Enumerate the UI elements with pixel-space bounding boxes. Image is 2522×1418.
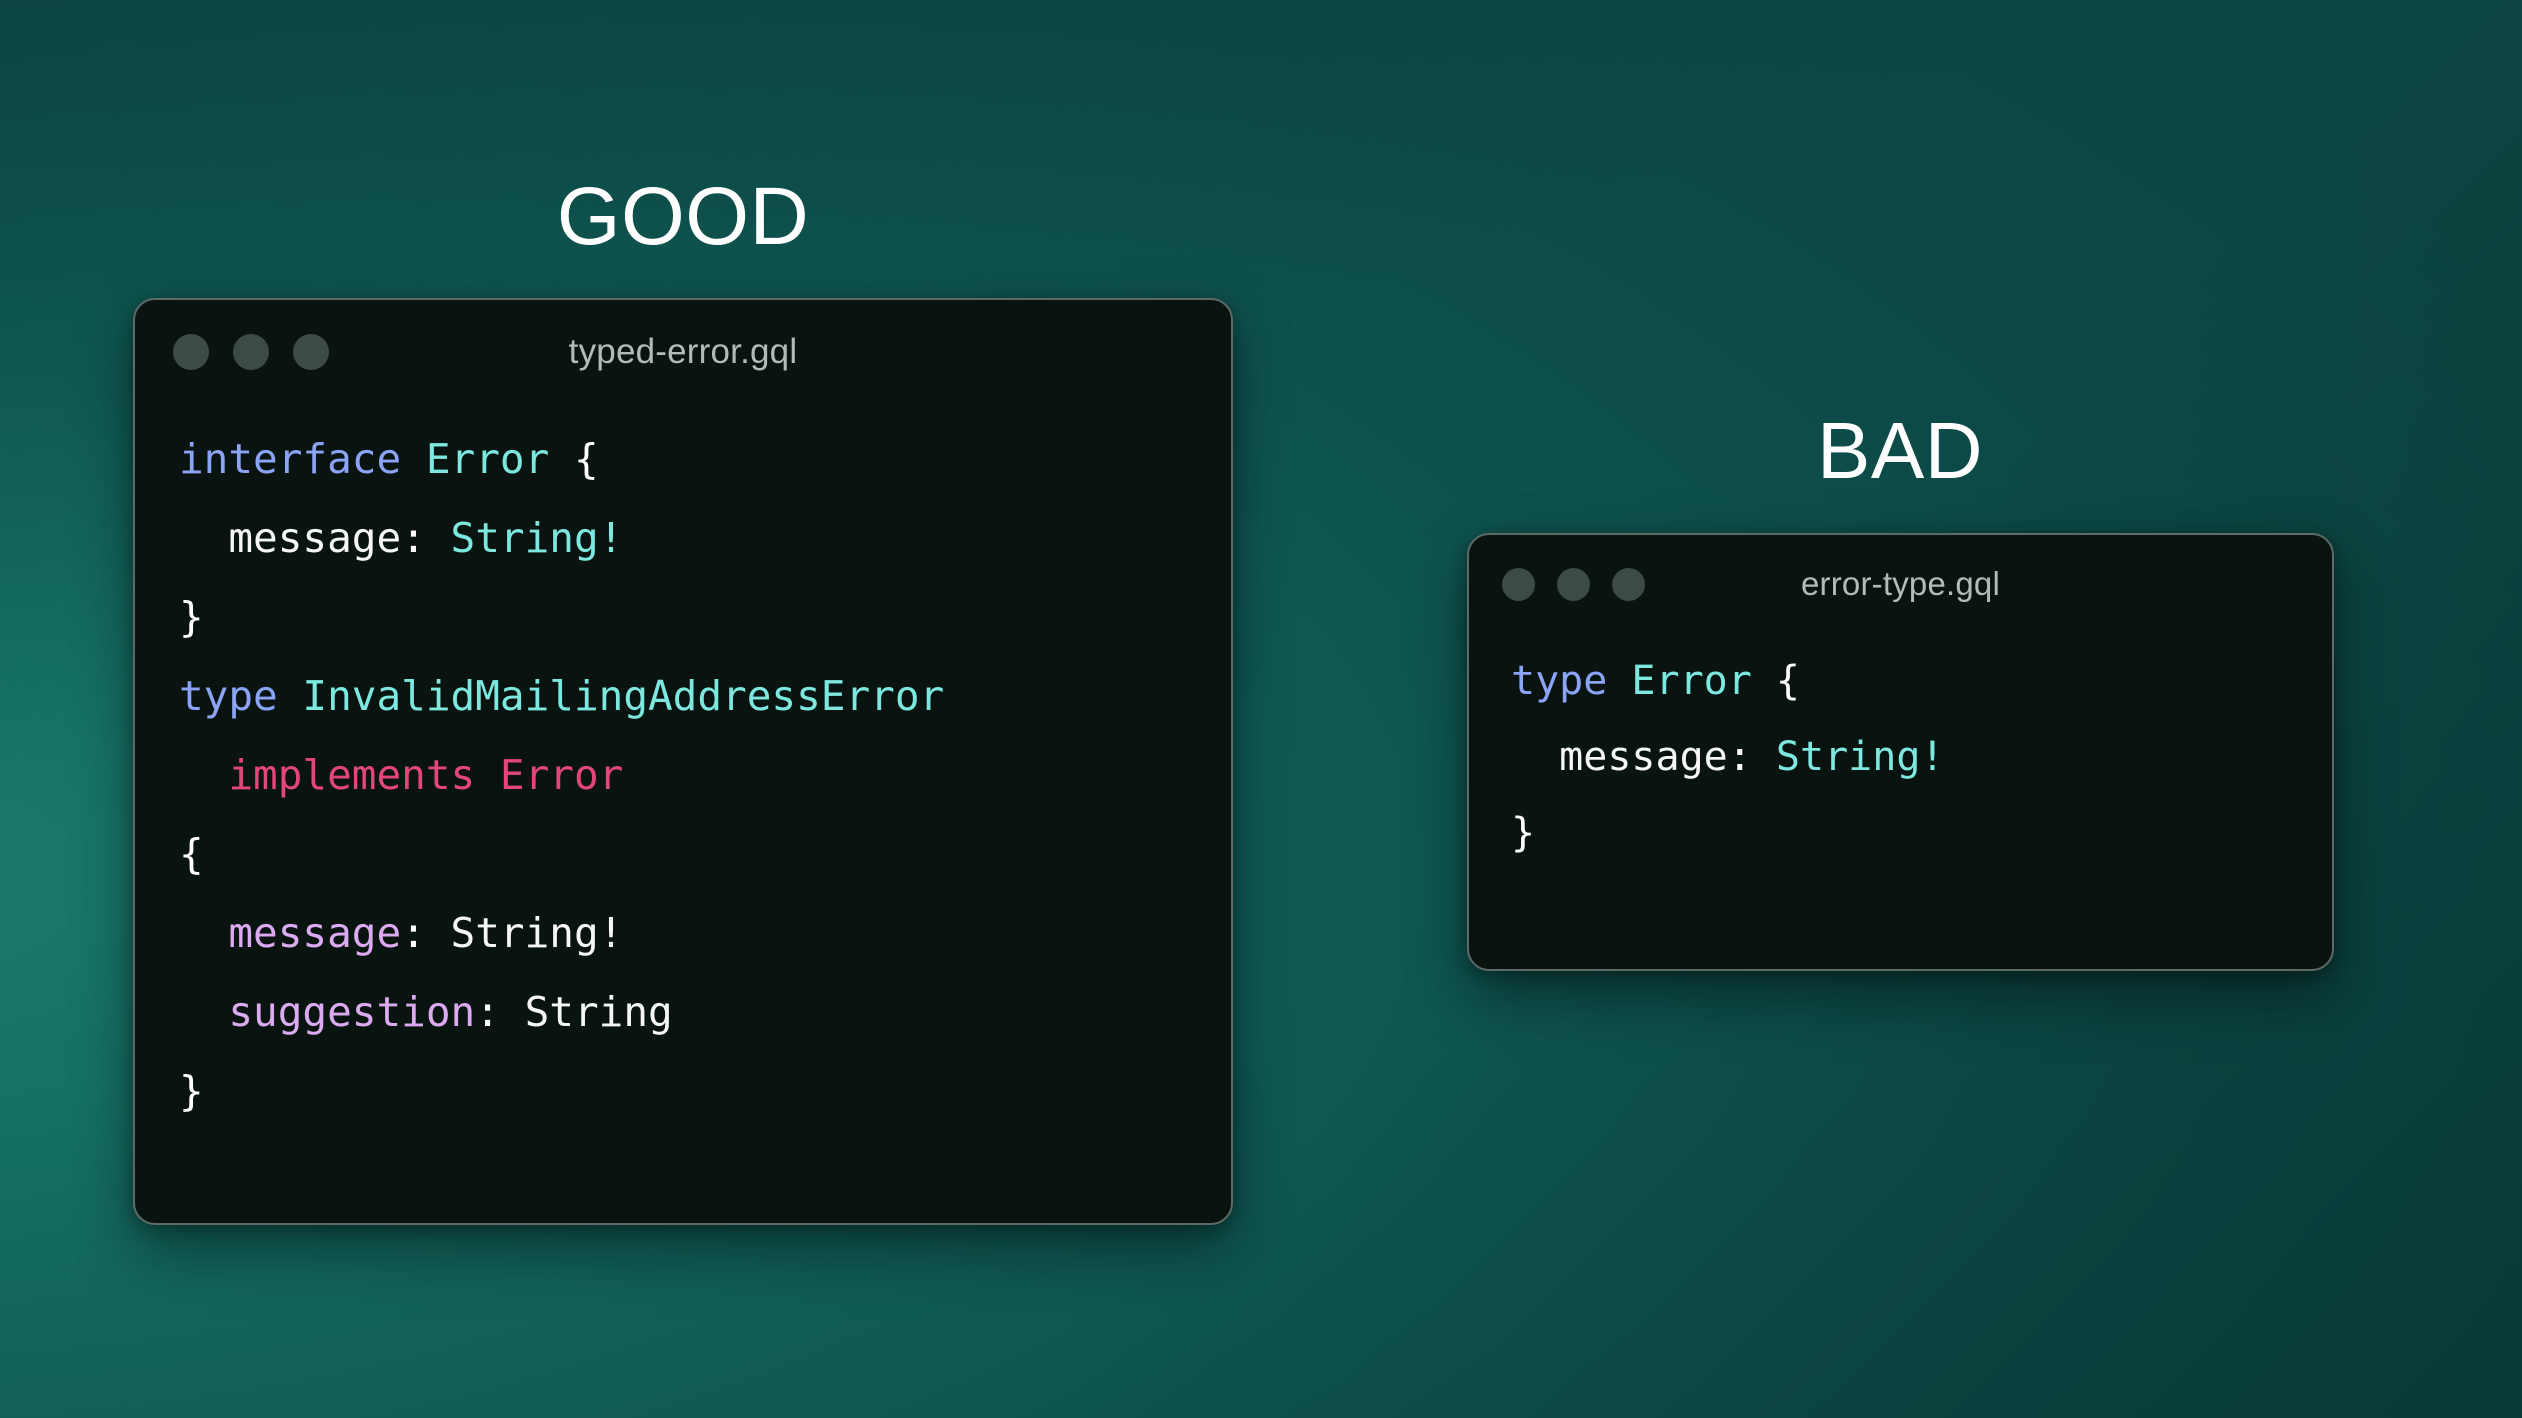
code-line: suggestion: String — [179, 973, 1231, 1052]
good-window-titlebar: typed-error.gql — [135, 300, 1231, 404]
code-line: message: String! — [1511, 719, 2332, 795]
code-token-punct: { — [179, 830, 204, 878]
good-code-window: typed-error.gql interface Error { messag… — [133, 298, 1233, 1225]
code-token-field: message — [179, 909, 401, 957]
code-token-punct: } — [179, 1067, 204, 1115]
code-token-type: String! — [451, 514, 624, 562]
code-line: { — [179, 815, 1231, 894]
code-token-type: Error — [1631, 658, 1751, 704]
bad-window-controls — [1502, 568, 1645, 601]
slide-canvas: GOOD typed-error.gql interface Error { m… — [0, 0, 2522, 1418]
code-token-kw: interface — [179, 435, 426, 483]
code-token-punct: : — [401, 514, 450, 562]
code-token-punct: } — [1511, 810, 1535, 856]
code-line: } — [1511, 795, 2332, 871]
code-token-type: String! — [1776, 734, 1945, 780]
code-token-plain: String! — [451, 909, 624, 957]
bad-code-block: type Error { message: String!} — [1469, 633, 2332, 871]
code-token-kw: type — [1511, 658, 1631, 704]
code-token-plain: String — [525, 988, 673, 1036]
code-line: type InvalidMailingAddressError — [179, 657, 1231, 736]
code-line: implements Error — [179, 736, 1231, 815]
bad-window-titlebar: error-type.gql — [1469, 535, 2332, 633]
code-token-plain: message — [179, 514, 401, 562]
code-line: message: String! — [179, 499, 1231, 578]
close-dot-icon[interactable] — [1502, 568, 1535, 601]
good-heading: GOOD — [0, 176, 1366, 258]
good-code-block: interface Error { message: String!}type … — [135, 404, 1231, 1131]
code-token-field: suggestion — [179, 988, 475, 1036]
close-dot-icon[interactable] — [173, 334, 209, 370]
maximize-dot-icon[interactable] — [293, 334, 329, 370]
code-token-plain: message — [1511, 734, 1728, 780]
code-token-type: Error — [426, 435, 549, 483]
bad-code-window: error-type.gql type Error { message: Str… — [1467, 533, 2334, 971]
code-token-impl: implements Error — [179, 751, 623, 799]
code-token-punct: } — [179, 593, 204, 641]
code-line: } — [179, 1052, 1231, 1131]
code-token-type: InvalidMailingAddressError — [302, 672, 944, 720]
good-window-controls — [173, 334, 329, 370]
minimize-dot-icon[interactable] — [1557, 568, 1590, 601]
code-token-punct: : — [475, 988, 524, 1036]
minimize-dot-icon[interactable] — [233, 334, 269, 370]
code-line: type Error { — [1511, 643, 2332, 719]
code-token-punct: { — [1752, 658, 1800, 704]
code-line: } — [179, 578, 1231, 657]
maximize-dot-icon[interactable] — [1612, 568, 1645, 601]
code-line: message: String! — [179, 894, 1231, 973]
code-token-punct: : — [1728, 734, 1776, 780]
bad-heading: BAD — [1467, 411, 2333, 491]
code-token-punct: { — [549, 435, 598, 483]
code-token-kw: type — [179, 672, 302, 720]
code-token-punct: : — [401, 909, 450, 957]
code-line: interface Error { — [179, 420, 1231, 499]
